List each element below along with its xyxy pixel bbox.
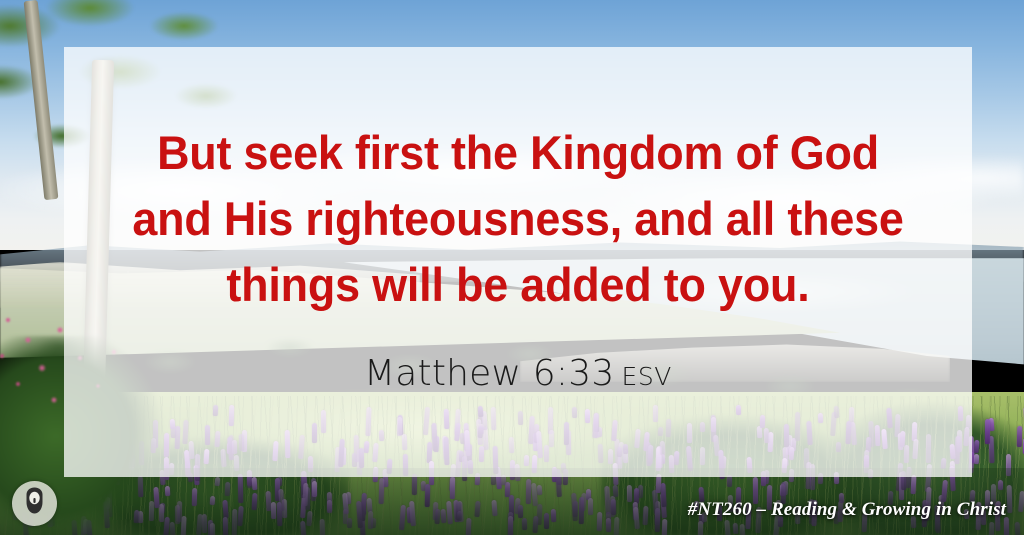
verse-line-1: But seek first the Kingdom of God <box>84 120 951 186</box>
bearded-face-icon <box>12 481 57 526</box>
verse-translation: ESV <box>621 362 672 391</box>
bearded-face-logo[interactable] <box>12 481 57 526</box>
verse-text: But seek first the Kingdom of God and Hi… <box>84 120 951 318</box>
series-footer: #NT260 – Reading & Growing in Christ <box>688 499 1006 521</box>
verse-attribution: Matthew 6:33ESV <box>64 353 972 398</box>
verse-line-3: things will be added to you. <box>84 252 951 318</box>
verse-line-2: and His righteousness, and all these <box>84 186 951 252</box>
verse-reference: Matthew 6:33 <box>364 353 614 394</box>
verse-graphic: But seek first the Kingdom of God and Hi… <box>0 0 1024 535</box>
